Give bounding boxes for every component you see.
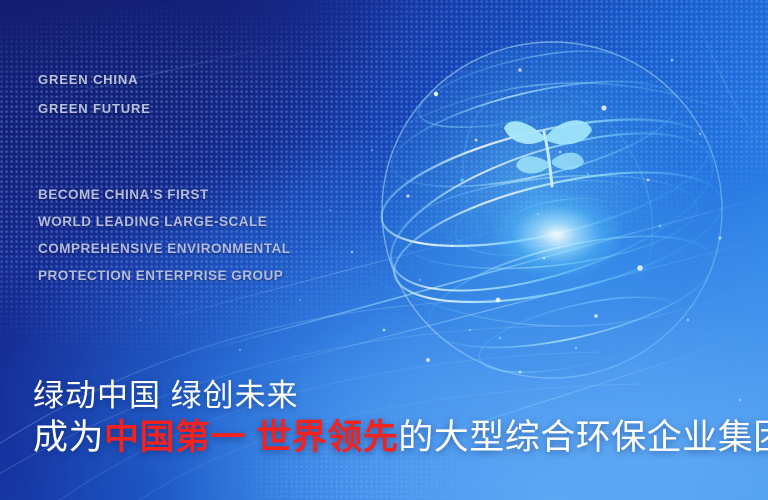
slogan-line-4: PROTECTION ENTERPRISE GROUP xyxy=(38,268,283,283)
headline-suffix: 的大型综合环保企业集团 xyxy=(398,418,768,457)
slogan-line-3: COMPREHENSIVE ENVIRONMENTAL xyxy=(38,241,291,256)
eyebrow-line-2: GREEN FUTURE xyxy=(38,101,151,116)
slogan-line-2: WORLD LEADING LARGE-SCALE xyxy=(38,214,267,229)
slogan-line-1: BECOME CHINA'S FIRST xyxy=(38,187,209,202)
headline-line-2: 成为中国第一 世界领先的大型综合环保企业集团 xyxy=(33,409,768,460)
headline-prefix: 成为 xyxy=(33,418,104,457)
headline-accent: 中国第一 世界领先 xyxy=(104,418,398,457)
eyebrow-line-1: GREEN CHINA xyxy=(38,72,138,87)
promotional-banner: GREEN CHINA GREEN FUTURE BECOME CHINA'S … xyxy=(0,0,768,500)
